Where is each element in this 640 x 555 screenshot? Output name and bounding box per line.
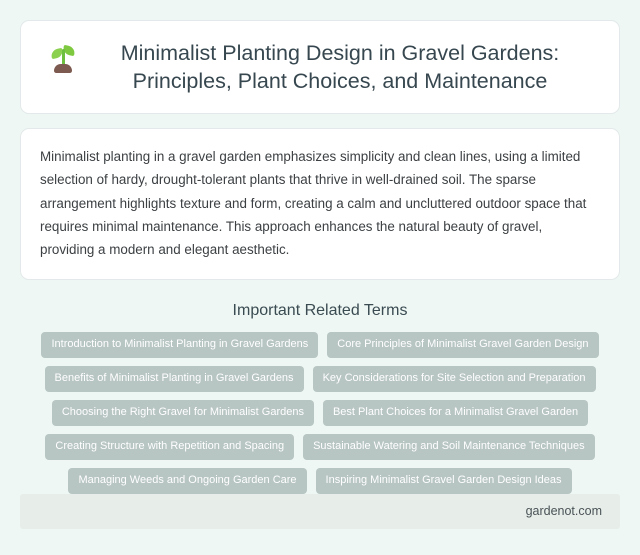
seedling-icon <box>50 43 76 73</box>
seedling-soil-mound <box>54 64 72 73</box>
related-terms-heading: Important Related Terms <box>20 302 620 320</box>
summary-card: Minimalist planting in a gravel garden e… <box>20 128 620 279</box>
related-term-chip[interactable]: Sustainable Watering and Soil Maintenanc… <box>303 434 595 460</box>
footer-domain: gardenot.com <box>526 504 602 518</box>
related-term-chip[interactable]: Introduction to Minimalist Planting in G… <box>41 332 318 358</box>
page-root: Minimalist Planting Design in Gravel Gar… <box>0 0 640 555</box>
title-row: Minimalist Planting Design in Gravel Gar… <box>50 39 590 96</box>
summary-paragraph: Minimalist planting in a gravel garden e… <box>40 145 600 260</box>
related-term-chip[interactable]: Core Principles of Minimalist Gravel Gar… <box>327 332 598 358</box>
related-term-chip[interactable]: Key Considerations for Site Selection an… <box>313 366 596 392</box>
page-title: Minimalist Planting Design in Gravel Gar… <box>90 39 590 96</box>
related-term-chip[interactable]: Benefits of Minimalist Planting in Grave… <box>45 366 304 392</box>
related-term-chip[interactable]: Choosing the Right Gravel for Minimalist… <box>52 400 314 426</box>
related-term-chip[interactable]: Inspiring Minimalist Gravel Garden Desig… <box>316 468 572 494</box>
title-card: Minimalist Planting Design in Gravel Gar… <box>20 20 620 114</box>
related-term-chip[interactable]: Managing Weeds and Ongoing Garden Care <box>68 468 306 494</box>
related-term-chip[interactable]: Best Plant Choices for a Minimalist Grav… <box>323 400 588 426</box>
related-terms-list: Introduction to Minimalist Planting in G… <box>20 332 620 494</box>
related-term-chip[interactable]: Creating Structure with Repetition and S… <box>45 434 294 460</box>
footer-bar: gardenot.com <box>20 494 620 529</box>
